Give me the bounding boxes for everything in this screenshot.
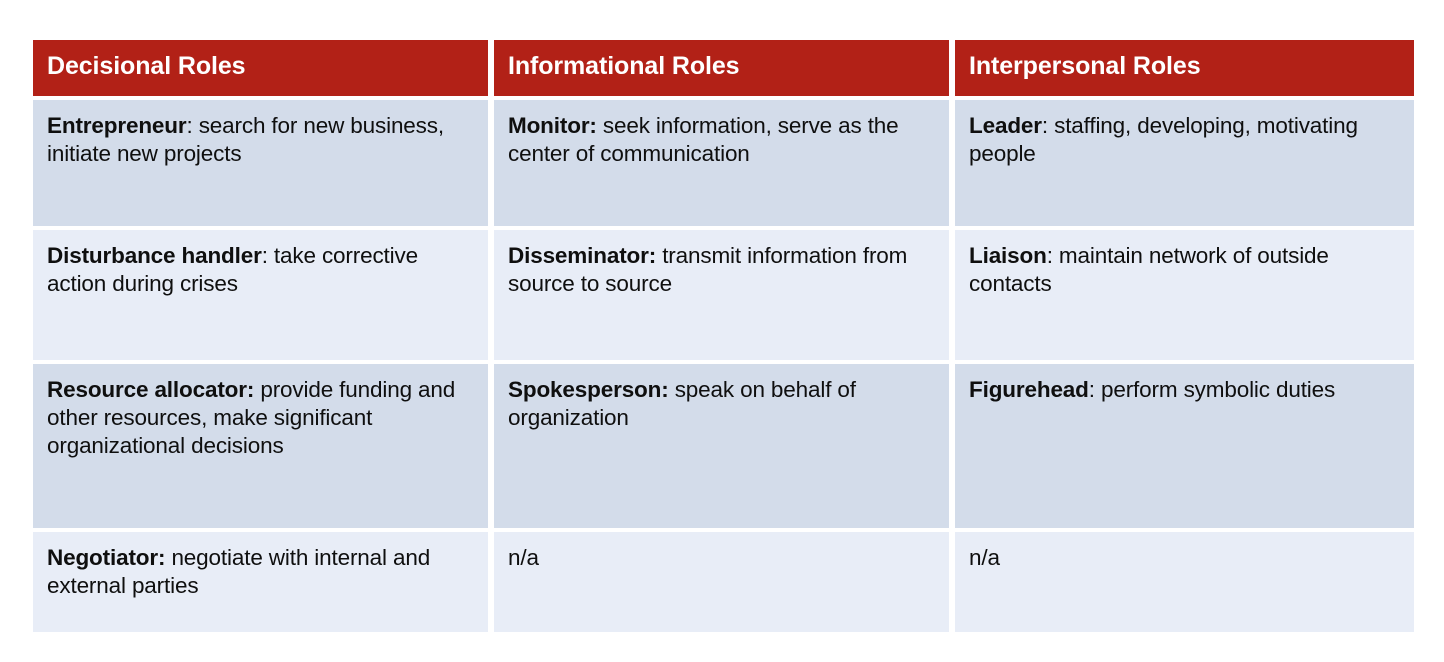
role-name: Leader (969, 113, 1042, 138)
cell-resource-allocator: Resource allocator: provide funding and … (33, 364, 488, 528)
role-name: Negotiator: (47, 545, 165, 570)
cell-figurehead: Figurehead: perform symbolic duties (955, 364, 1414, 528)
cell-liaison: Liaison: maintain network of outside con… (955, 230, 1414, 360)
role-name: Disseminator: (508, 243, 656, 268)
cell-spokesperson: Spokesperson: speak on behalf of organiz… (494, 364, 949, 528)
table-body: Entrepreneur: search for new business, i… (33, 96, 1414, 632)
column-header-interpersonal-label: Interpersonal Roles (969, 52, 1201, 80)
management-roles-table: Decisional Roles Informational Roles Int… (27, 40, 1420, 632)
table-row: Disturbance handler: take corrective act… (33, 230, 1414, 360)
column-header-interpersonal: Interpersonal Roles (955, 40, 1414, 96)
cell-entrepreneur: Entrepreneur: search for new business, i… (33, 100, 488, 226)
cell-leader: Leader: staffing, developing, motivating… (955, 100, 1414, 226)
role-description: n/a (969, 545, 1000, 570)
table-row: Entrepreneur: search for new business, i… (33, 100, 1414, 226)
cell-negotiator: Negotiator: negotiate with internal and … (33, 532, 488, 632)
roles-table-container: Decisional Roles Informational Roles Int… (33, 40, 1402, 632)
cell-informational-na: n/a (494, 532, 949, 632)
table-row: Resource allocator: provide funding and … (33, 364, 1414, 528)
table-row: Negotiator: negotiate with internal and … (33, 532, 1414, 632)
cell-disseminator: Disseminator: transmit information from … (494, 230, 949, 360)
table-header: Decisional Roles Informational Roles Int… (33, 40, 1414, 96)
header-row: Decisional Roles Informational Roles Int… (33, 40, 1414, 96)
role-name: Resource allocator: (47, 377, 254, 402)
cell-interpersonal-na: n/a (955, 532, 1414, 632)
role-name: Spokesperson: (508, 377, 669, 402)
column-header-decisional: Decisional Roles (33, 40, 488, 96)
column-header-informational: Informational Roles (494, 40, 949, 96)
role-description: perform symbolic duties (1095, 377, 1335, 402)
role-name: Entrepreneur (47, 113, 186, 138)
column-header-decisional-label: Decisional Roles (47, 52, 245, 80)
role-name: Figurehead (969, 377, 1089, 402)
role-name: Liaison (969, 243, 1047, 268)
column-header-informational-label: Informational Roles (508, 52, 739, 80)
cell-disturbance-handler: Disturbance handler: take corrective act… (33, 230, 488, 360)
cell-monitor: Monitor: seek information, serve as the … (494, 100, 949, 226)
role-description: n/a (508, 545, 539, 570)
role-name: Disturbance handler (47, 243, 262, 268)
role-name: Monitor: (508, 113, 597, 138)
